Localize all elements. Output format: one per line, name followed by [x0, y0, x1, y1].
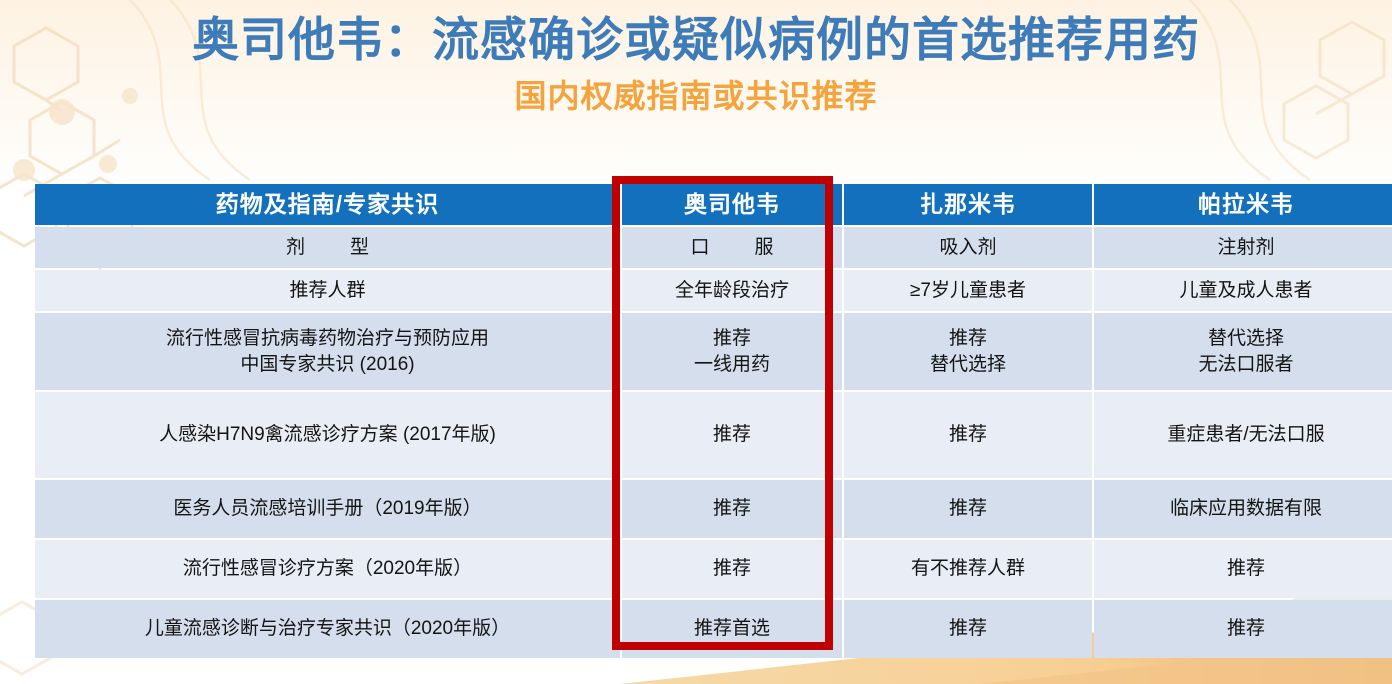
cell-text: 口 服	[677, 237, 786, 258]
cell-text-line1: 替代选择	[1098, 326, 1392, 352]
cell-oseltamivir-training-2019: 推荐	[622, 480, 842, 538]
cell-oseltamivir-pediatric-2020: 推荐首选	[622, 600, 842, 658]
cell-zanamivir-population: ≥7岁儿童患者	[844, 270, 1092, 311]
row-label-influenza-protocol-2020: 流行性感冒诊疗方案（2020年版）	[35, 540, 620, 598]
cell-oseltamivir-dosage-form: 口 服	[622, 227, 842, 268]
page-subtitle: 国内权威指南或共识推荐	[0, 67, 1392, 114]
row-label-pediatric-consensus-2020: 儿童流感诊断与治疗专家共识（2020年版）	[35, 600, 620, 658]
page-title: 奥司他韦：流感确诊或疑似病例的首选推荐用药	[0, 0, 1392, 67]
table-row: 流行性感冒诊疗方案（2020年版） 推荐 有不推荐人群 推荐	[35, 540, 1392, 598]
comparison-table-container: 药物及指南/专家共识 奥司他韦 扎那米韦 帕拉米韦 剂 型 口 服 吸入剂 注射…	[33, 182, 1366, 660]
cell-zanamivir-dosage-form: 吸入剂	[844, 227, 1092, 268]
table-body: 剂 型 口 服 吸入剂 注射剂 推荐人群 全年龄段治疗 ≥7岁儿童患者 儿童及成…	[35, 227, 1392, 658]
cell-zanamivir-protocol-2020: 有不推荐人群	[844, 540, 1092, 598]
cell-peramivir-population: 儿童及成人患者	[1094, 270, 1392, 311]
table-row: 推荐人群 全年龄段治疗 ≥7岁儿童患者 儿童及成人患者	[35, 270, 1392, 311]
antiviral-comparison-table: 药物及指南/专家共识 奥司他韦 扎那米韦 帕拉米韦 剂 型 口 服 吸入剂 注射…	[33, 182, 1392, 660]
cell-oseltamivir-h7n9-2017: 推荐	[622, 392, 842, 478]
cell-peramivir-pediatric-2020: 推荐	[1094, 600, 1392, 658]
table-head: 药物及指南/专家共识 奥司他韦 扎那米韦 帕拉米韦	[35, 184, 1392, 225]
row-label-dosage-form: 剂 型	[35, 227, 620, 268]
cell-text-line2: 无法口服者	[1098, 352, 1392, 378]
cell-peramivir-consensus-2016: 替代选择 无法口服者	[1094, 313, 1392, 390]
cell-zanamivir-h7n9-2017: 推荐	[844, 392, 1092, 478]
table-row: 流行性感冒抗病毒药物治疗与预防应用 中国专家共识 (2016) 推荐 一线用药 …	[35, 313, 1392, 390]
title-block: 奥司他韦：流感确诊或疑似病例的首选推荐用药 国内权威指南或共识推荐	[0, 0, 1392, 114]
row-label-training-manual-2019: 医务人员流感培训手册（2019年版）	[35, 480, 620, 538]
column-header-oseltamivir: 奥司他韦	[622, 184, 842, 225]
cell-peramivir-h7n9-2017: 重症患者/无法口服	[1094, 392, 1392, 478]
cell-text-line2: 中国专家共识 (2016)	[39, 352, 616, 378]
cell-peramivir-protocol-2020: 推荐	[1094, 540, 1392, 598]
cell-oseltamivir-consensus-2016: 推荐 一线用药	[622, 313, 842, 390]
row-label-consensus-2016: 流行性感冒抗病毒药物治疗与预防应用 中国专家共识 (2016)	[35, 313, 620, 390]
column-header-zanamivir: 扎那米韦	[844, 184, 1092, 225]
cell-peramivir-training-2019: 临床应用数据有限	[1094, 480, 1392, 538]
cell-zanamivir-consensus-2016: 推荐 替代选择	[844, 313, 1092, 390]
slide-canvas: 奥司他韦：流感确诊或疑似病例的首选推荐用药 国内权威指南或共识推荐 药物及指南/…	[0, 0, 1392, 684]
cell-zanamivir-training-2019: 推荐	[844, 480, 1092, 538]
cell-text-line1: 推荐	[626, 326, 838, 352]
cell-text-line2: 一线用药	[626, 352, 838, 378]
table-header-row: 药物及指南/专家共识 奥司他韦 扎那米韦 帕拉米韦	[35, 184, 1392, 225]
column-header-drug-guideline: 药物及指南/专家共识	[35, 184, 620, 225]
cell-text-line2: 替代选择	[848, 352, 1088, 378]
row-label-h7n9-2017: 人感染H7N9禽流感诊疗方案 (2017年版)	[35, 392, 620, 478]
table-row: 人感染H7N9禽流感诊疗方案 (2017年版) 推荐 推荐 重症患者/无法口服	[35, 392, 1392, 478]
cell-oseltamivir-protocol-2020: 推荐	[622, 540, 842, 598]
row-label-recommended-population: 推荐人群	[35, 270, 620, 311]
cell-text-line1: 流行性感冒抗病毒药物治疗与预防应用	[39, 326, 616, 352]
table-row: 儿童流感诊断与治疗专家共识（2020年版） 推荐首选 推荐 推荐	[35, 600, 1392, 658]
table-row: 医务人员流感培训手册（2019年版） 推荐 推荐 临床应用数据有限	[35, 480, 1392, 538]
column-header-peramivir: 帕拉米韦	[1094, 184, 1392, 225]
cell-oseltamivir-population: 全年龄段治疗	[622, 270, 842, 311]
cell-text: 剂 型	[273, 237, 382, 258]
cell-text-line1: 推荐	[848, 326, 1088, 352]
cell-peramivir-dosage-form: 注射剂	[1094, 227, 1392, 268]
cell-zanamivir-pediatric-2020: 推荐	[844, 600, 1092, 658]
table-row: 剂 型 口 服 吸入剂 注射剂	[35, 227, 1392, 268]
